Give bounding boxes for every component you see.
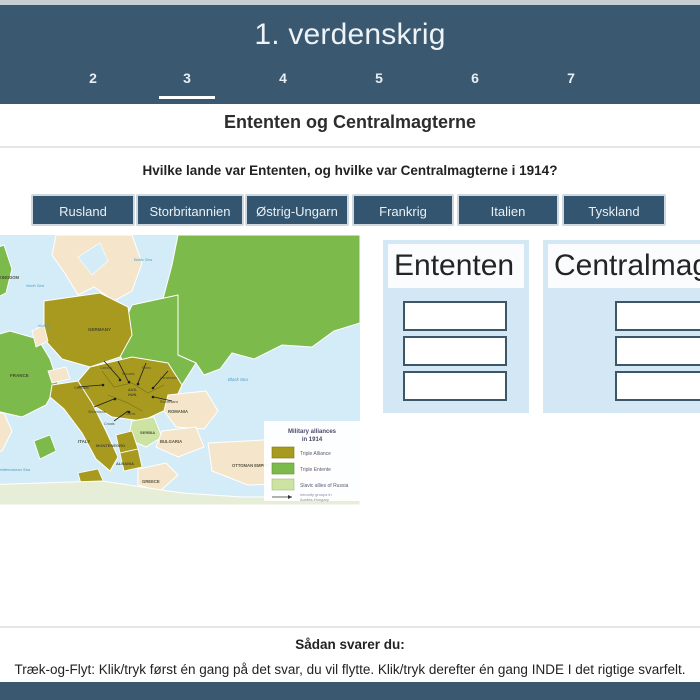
dropzone-centralmagterne[interactable]: Centralmagterne bbox=[543, 240, 700, 413]
help-title: Sådan svarer du: bbox=[0, 637, 700, 652]
svg-text:Ukrainians: Ukrainians bbox=[160, 376, 177, 380]
tab-5[interactable]: 5 bbox=[342, 64, 416, 104]
page-header: 1. verdenskrig 234567 bbox=[0, 5, 700, 104]
svg-text:Mediterranean Sea: Mediterranean Sea bbox=[0, 467, 31, 472]
tab-4[interactable]: 4 bbox=[246, 64, 320, 104]
answer-chip[interactable]: Storbritannien bbox=[136, 194, 244, 226]
subject-title-band: Ententen og Centralmagterne bbox=[0, 104, 700, 146]
dropzone-slot[interactable] bbox=[403, 336, 507, 366]
dropzone-slot[interactable] bbox=[615, 301, 700, 331]
tab-active-underline bbox=[543, 96, 599, 99]
tab-label: 5 bbox=[375, 70, 383, 86]
svg-text:Poles: Poles bbox=[142, 366, 151, 370]
svg-text:Black Sea: Black Sea bbox=[228, 377, 248, 382]
svg-text:Baltic Sea: Baltic Sea bbox=[134, 257, 153, 262]
svg-text:BULGARIA: BULGARIA bbox=[160, 439, 182, 444]
svg-text:Czechs: Czechs bbox=[100, 366, 112, 370]
question-text: Hvilke lande var Ententen, og hvilke var… bbox=[0, 163, 700, 178]
dropzone-title: Ententen bbox=[388, 244, 524, 288]
dropzone-slot[interactable] bbox=[615, 371, 700, 401]
tab-active-underline bbox=[351, 96, 407, 99]
answer-chip[interactable]: Italien bbox=[457, 194, 559, 226]
svg-text:Triple Entente: Triple Entente bbox=[300, 467, 331, 473]
svg-text:North Sea: North Sea bbox=[26, 283, 45, 288]
svg-text:ROMANIA: ROMANIA bbox=[168, 409, 188, 414]
svg-text:Irish Sea: Irish Sea bbox=[38, 324, 52, 328]
answer-chip-row: RuslandStorbritannienØstrig-UngarnFrankr… bbox=[0, 194, 700, 228]
dropzone-slot[interactable] bbox=[615, 336, 700, 366]
svg-text:Triple Alliance: Triple Alliance bbox=[300, 451, 331, 457]
svg-text:ITALY: ITALY bbox=[78, 439, 90, 444]
svg-text:Romanians: Romanians bbox=[160, 400, 178, 404]
map-legend: Military alliances in 1914 Triple Allian… bbox=[264, 421, 360, 502]
europe-alliances-map-1914: GERMANY FRANCE ITALY UNITED KINGDOM Czec… bbox=[0, 235, 360, 505]
tab-label: 3 bbox=[183, 70, 191, 86]
answer-chip[interactable]: Østrig-Ungarn bbox=[245, 194, 349, 226]
dropzone-slot[interactable] bbox=[403, 371, 507, 401]
footer-bar bbox=[0, 682, 700, 700]
svg-text:Austria-Hungary: Austria-Hungary bbox=[300, 497, 329, 502]
tab-label: 6 bbox=[471, 70, 479, 86]
dropzone-title: Centralmagterne bbox=[548, 244, 700, 288]
tab-3[interactable]: 3 bbox=[150, 64, 224, 104]
tab-6[interactable]: 6 bbox=[438, 64, 512, 104]
tab-active-underline bbox=[159, 96, 215, 99]
tab-label: 7 bbox=[567, 70, 575, 86]
answer-chip[interactable]: Rusland bbox=[31, 194, 135, 226]
map-svg: GERMANY FRANCE ITALY UNITED KINGDOM Czec… bbox=[0, 235, 360, 505]
title-divider bbox=[0, 146, 700, 148]
tab-active-underline bbox=[255, 96, 311, 99]
answer-chip[interactable]: Frankrig bbox=[352, 194, 454, 226]
svg-text:Serbs: Serbs bbox=[126, 412, 136, 416]
svg-text:GREECE: GREECE bbox=[142, 479, 160, 484]
dropzone-slot[interactable] bbox=[403, 301, 507, 331]
help-body: Træk-og-Flyt: Klik/tryk først én gang på… bbox=[0, 662, 700, 677]
tab-active-underline bbox=[447, 96, 503, 99]
tab-2[interactable]: 2 bbox=[56, 64, 130, 104]
page-tabs[interactable]: 234567 bbox=[0, 64, 700, 104]
tab-label: 4 bbox=[279, 70, 287, 86]
page-title: 1. verdenskrig bbox=[0, 15, 700, 55]
svg-text:ALBANIA: ALBANIA bbox=[116, 461, 134, 466]
svg-text:AUS-: AUS- bbox=[128, 388, 138, 392]
svg-text:in 1914: in 1914 bbox=[302, 437, 323, 443]
answer-chip[interactable]: Tyskland bbox=[562, 194, 666, 226]
svg-text:FRANCE: FRANCE bbox=[10, 373, 29, 378]
svg-text:Military alliances: Military alliances bbox=[288, 429, 337, 435]
subject-title: Ententen og Centralmagterne bbox=[0, 112, 700, 133]
lesson-page: 1. verdenskrig 234567 Ententen og Centra… bbox=[0, 0, 700, 700]
help-divider bbox=[0, 626, 700, 628]
svg-text:Croats: Croats bbox=[104, 422, 115, 426]
tab-7[interactable]: 7 bbox=[534, 64, 608, 104]
svg-text:GERMANY: GERMANY bbox=[88, 327, 111, 332]
tab-label: 2 bbox=[89, 70, 97, 86]
dropzone-ententen[interactable]: Ententen bbox=[383, 240, 529, 413]
svg-text:SERBIA: SERBIA bbox=[140, 430, 155, 435]
svg-text:UNITED KINGDOM: UNITED KINGDOM bbox=[0, 275, 20, 280]
svg-text:Slavic allies of Russia: Slavic allies of Russia bbox=[300, 483, 349, 489]
svg-text:Slovaks: Slovaks bbox=[122, 372, 135, 376]
tab-active-underline bbox=[65, 96, 121, 99]
svg-text:Slovenians: Slovenians bbox=[88, 410, 106, 414]
svg-text:MONTENEGRO: MONTENEGRO bbox=[96, 443, 125, 448]
svg-text:Germans: Germans bbox=[74, 386, 89, 390]
svg-text:HUN.: HUN. bbox=[128, 393, 137, 397]
